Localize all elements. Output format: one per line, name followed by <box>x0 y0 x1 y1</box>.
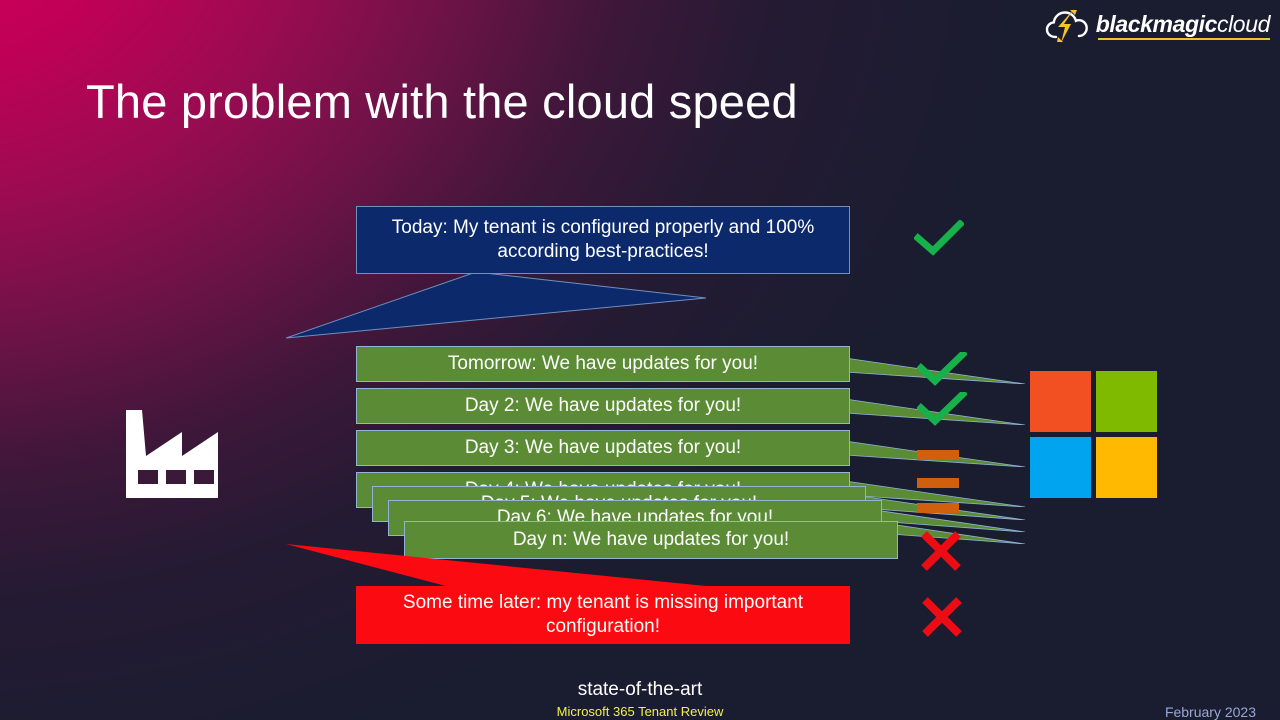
factory-icon <box>124 408 242 498</box>
dash-icon-1 <box>917 450 959 460</box>
brand-underline <box>1098 38 1270 40</box>
dash-icon-2 <box>917 478 959 488</box>
ms-square-orange <box>1030 371 1091 432</box>
blue-callout-tail <box>286 272 706 340</box>
brand-logo: blackmagiccloud <box>1044 6 1270 46</box>
callout-update-1: Tomorrow: We have updates for you! <box>356 346 850 382</box>
cross-icon-1 <box>920 530 962 572</box>
ms-square-yellow <box>1096 437 1157 498</box>
brand-name-bold: blackmagic <box>1096 11 1217 37</box>
slide: blackmagiccloud The problem with the clo… <box>0 0 1280 720</box>
check-icon-2 <box>917 352 967 386</box>
brand-name-light: cloud <box>1217 11 1270 37</box>
brand-logo-text: blackmagiccloud <box>1096 13 1270 40</box>
callout-update-2: Day 2: We have updates for you! <box>356 388 850 424</box>
check-icon-3 <box>917 392 967 426</box>
callout-today: Today: My tenant is configured properly … <box>356 206 850 274</box>
footer-deck-title: Microsoft 365 Tenant Review <box>0 704 1280 719</box>
callout-update-3: Day 3: We have updates for you! <box>356 430 850 466</box>
ms-square-blue <box>1030 437 1091 498</box>
footer-center-label: state-of-the-art <box>0 679 1280 701</box>
ms-square-green <box>1096 371 1157 432</box>
page-title: The problem with the cloud speed <box>86 74 798 129</box>
callout-later: Some time later: my tenant is missing im… <box>356 586 850 644</box>
dash-icon-3 <box>917 503 959 513</box>
footer-date: February 2023 <box>1165 704 1256 720</box>
cross-icon-2 <box>921 596 963 638</box>
cloud-lightning-icon <box>1044 7 1096 45</box>
check-icon-1 <box>914 220 964 256</box>
callout-update-n: Day n: We have updates for you! <box>404 521 898 559</box>
microsoft-logo <box>1030 371 1157 500</box>
